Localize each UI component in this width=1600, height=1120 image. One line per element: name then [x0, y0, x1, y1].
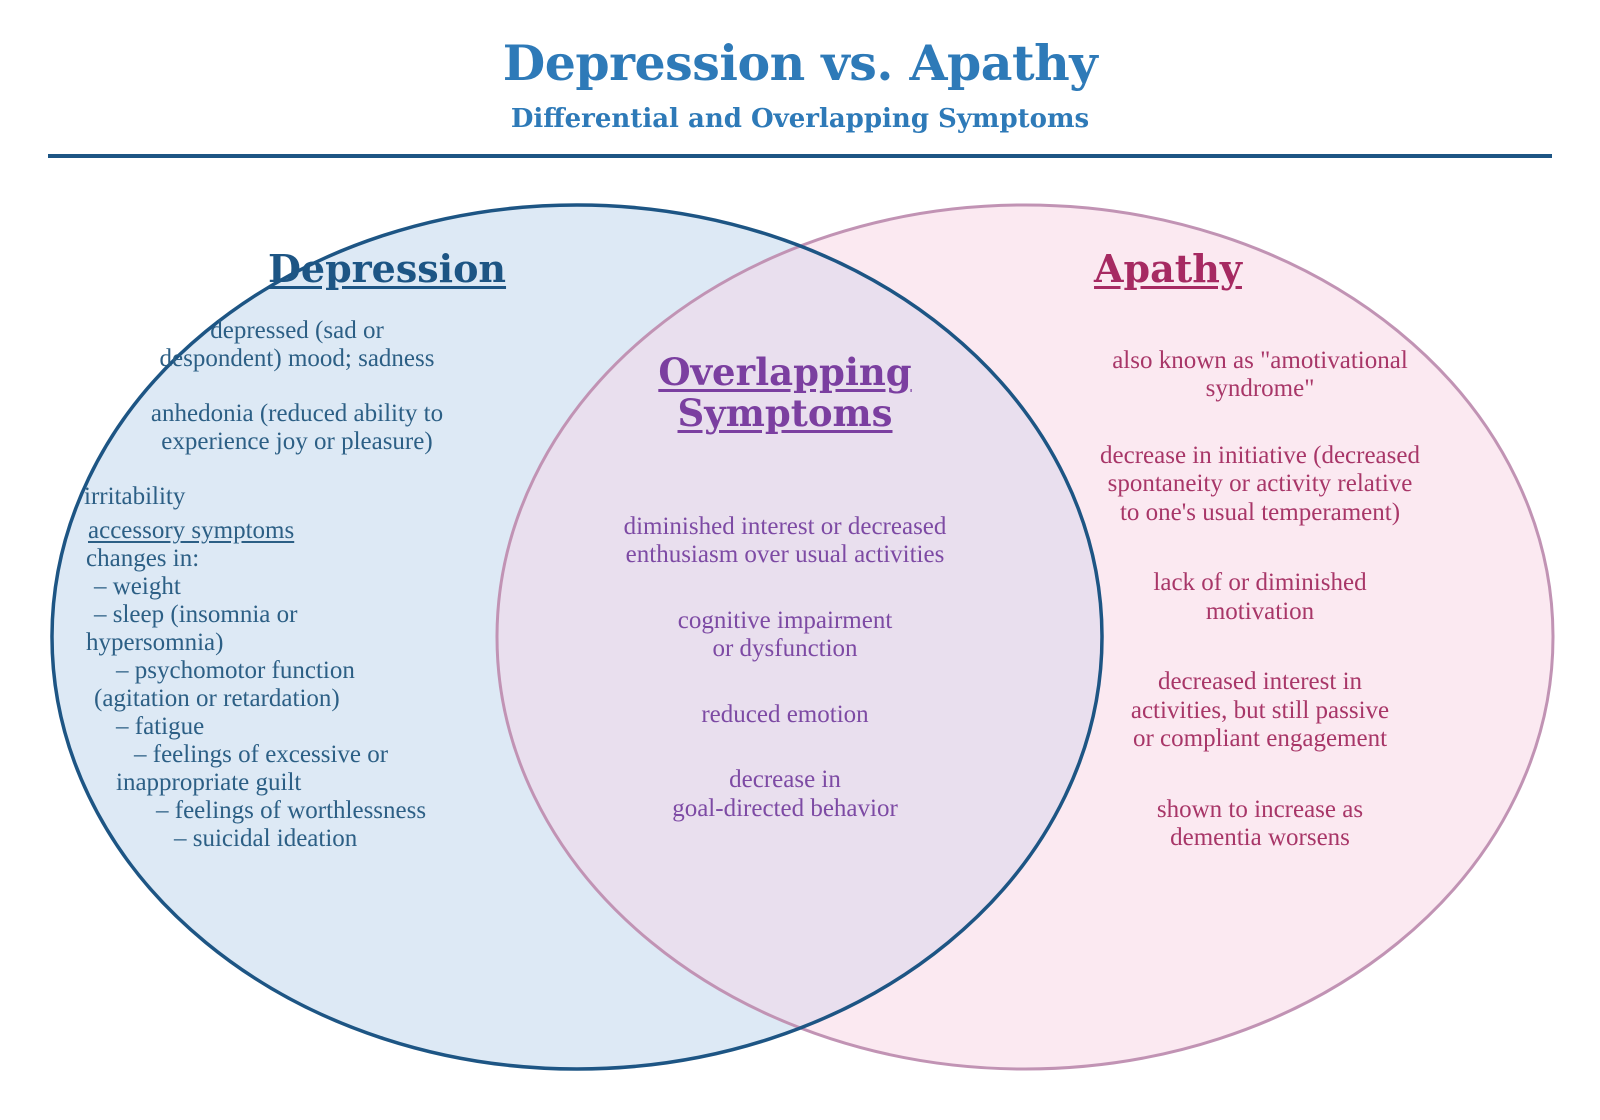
accessory-line: changes in: — [64, 545, 532, 573]
list-item: diminished interest or decreasedenthusia… — [560, 513, 1010, 570]
list-item: decrease in initiative (decreasedspontan… — [1000, 442, 1520, 528]
list-item: lack of or diminishedmotivation — [1000, 569, 1520, 626]
list-item: decreased interest inactivities, but sti… — [1000, 668, 1520, 754]
venn-diagram: Depression depressed (sad ordespondent) … — [0, 0, 1600, 1120]
accessory-line: – fatigue — [64, 713, 532, 741]
list-item: reduced emotion — [560, 701, 1010, 730]
depression-heading: Depression — [242, 248, 532, 291]
accessory-symptoms-block: accessory symptoms changes in: – weight … — [62, 517, 532, 853]
list-item: cognitive impairmentor dysfunction — [560, 607, 1010, 664]
accessory-line: – feelings of worthlessness — [64, 797, 532, 825]
accessory-line: inappropriate guilt — [64, 769, 532, 797]
accessory-line: – suicidal ideation — [64, 825, 532, 853]
apathy-heading: Apathy — [1018, 248, 1318, 291]
accessory-line: – weight — [64, 573, 532, 601]
apathy-section: Apathy also known as "amotivationalsyndr… — [1000, 248, 1520, 853]
list-item: irritability — [62, 483, 532, 512]
apathy-symptom-list: also known as "amotivationalsyndrome" de… — [1000, 347, 1520, 853]
overlapping-section: OverlappingSymptoms diminished interest … — [560, 352, 1010, 823]
accessory-line: hypersomnia) — [64, 629, 532, 657]
accessory-line: (agitation or retardation) — [64, 685, 532, 713]
depression-section: Depression depressed (sad ordespondent) … — [62, 248, 532, 853]
overlapping-symptom-list: diminished interest or decreasedenthusia… — [560, 513, 1010, 824]
depression-symptom-list: depressed (sad ordespondent) mood; sadne… — [62, 317, 532, 512]
accessory-symptoms-title: accessory symptoms — [64, 517, 532, 545]
accessory-line: – sleep (insomnia or — [64, 601, 532, 629]
list-item: also known as "amotivationalsyndrome" — [1000, 347, 1520, 404]
accessory-line: – psychomotor function — [64, 657, 532, 685]
list-item: depressed (sad ordespondent) mood; sadne… — [62, 317, 532, 374]
list-item: decrease ingoal-directed behavior — [560, 766, 1010, 823]
accessory-line: – feelings of excessive or — [64, 741, 532, 769]
overlapping-heading: OverlappingSymptoms — [560, 352, 1010, 435]
list-item: shown to increase asdementia worsens — [1000, 796, 1520, 853]
list-item: anhedonia (reduced ability toexperience … — [62, 400, 532, 457]
